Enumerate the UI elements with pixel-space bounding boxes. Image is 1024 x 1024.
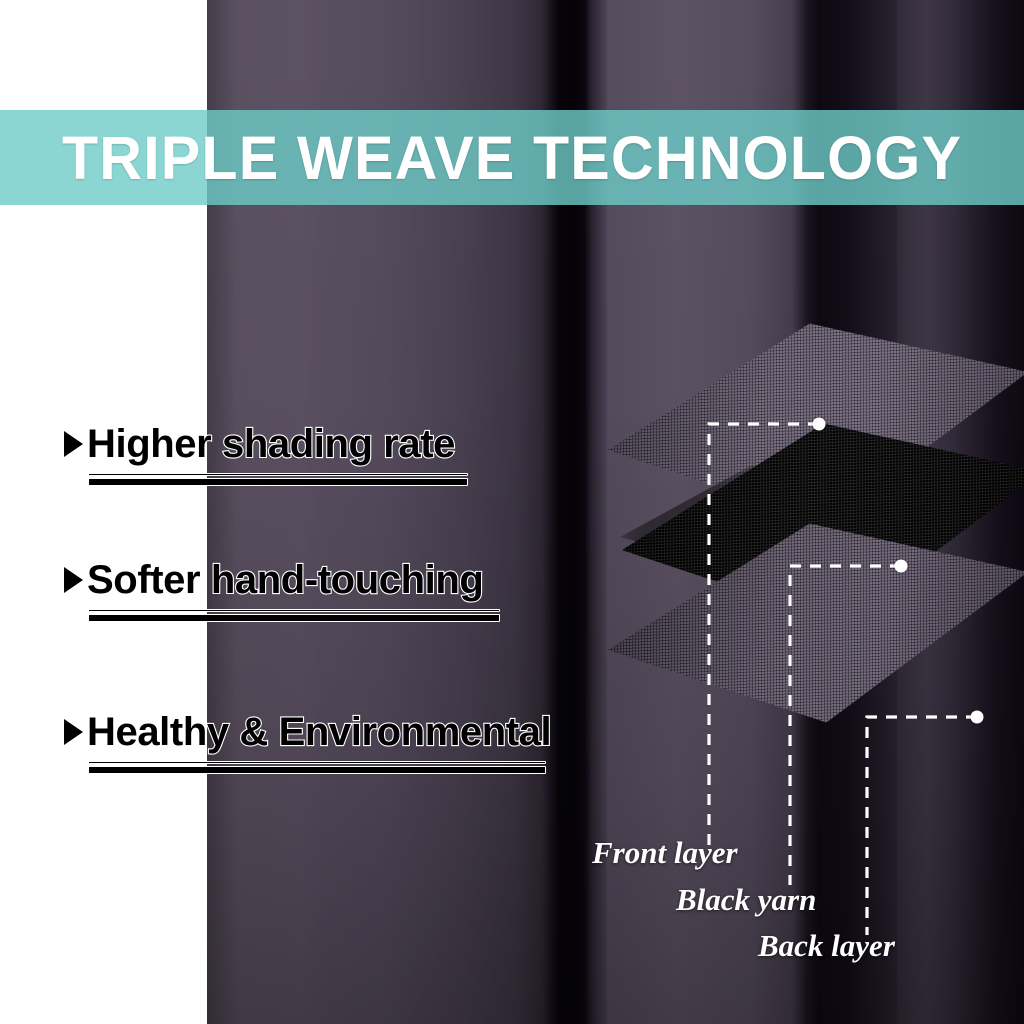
underline-thin-rule	[88, 609, 500, 612]
feature-label: Higher shading rate	[87, 424, 455, 464]
underline-thick-rule	[88, 614, 500, 622]
layer-label-front: Front layer	[592, 835, 738, 871]
feature-label: Softer hand-touching	[87, 560, 483, 600]
feature-underline	[88, 609, 500, 622]
feature-item-1: Higher shading rate	[64, 424, 468, 486]
triangle-right-icon	[64, 719, 83, 745]
callout-dot-black-yarn	[895, 560, 908, 573]
underline-thick-rule	[88, 766, 546, 774]
underline-thin-rule	[88, 473, 468, 476]
underline-thick-rule	[88, 478, 468, 486]
callout-dot-back-layer	[971, 711, 984, 724]
product-infographic: TRIPLE WEAVE TECHNOLOGY Higher shading r…	[0, 0, 1024, 1024]
feature-item-2: Softer hand-touching	[64, 560, 500, 622]
banner-title: TRIPLE WEAVE TECHNOLOGY	[62, 123, 962, 193]
feature-item-3: Healthy & Environmental	[64, 712, 551, 774]
layer-label-back: Back layer	[758, 928, 895, 964]
fabric-layer-diagram	[600, 315, 1024, 845]
triangle-right-icon	[64, 431, 83, 457]
feature-underline	[88, 473, 468, 486]
headline-banner: TRIPLE WEAVE TECHNOLOGY	[0, 110, 1024, 205]
callout-dot-front-layer	[813, 418, 826, 431]
triangle-right-icon	[64, 567, 83, 593]
underline-thin-rule	[88, 761, 546, 764]
feature-underline	[88, 761, 546, 774]
feature-label: Healthy & Environmental	[87, 712, 551, 752]
layer-label-black-yarn: Black yarn	[676, 882, 816, 918]
